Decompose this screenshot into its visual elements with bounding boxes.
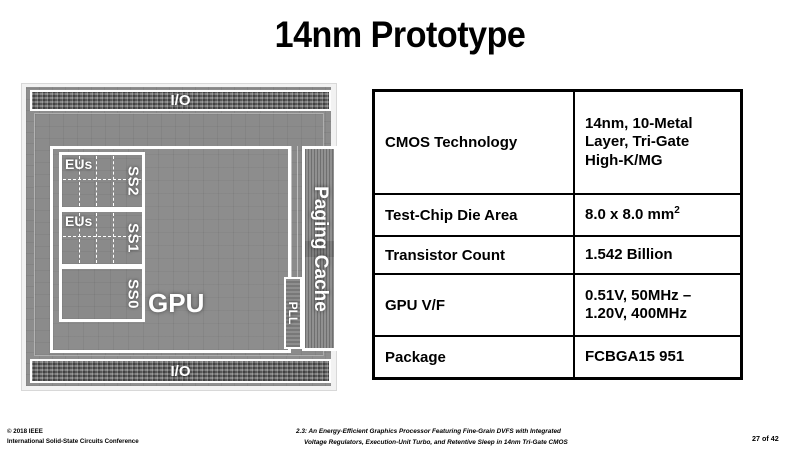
io-top-label: I/O [170,92,190,109]
io-bottom-label: I/O [170,363,190,380]
footer-paper-line-1: 2.3: An Energy-Efficient Graphics Proces… [296,428,561,435]
table-row: GPU V/F 0.51V, 50MHz – 1.20V, 400MHz [375,275,740,337]
die-region-io-bottom: I/O [30,359,331,383]
die-surface: I/O GPU EUs SS2 [26,87,331,386]
die-area-unit-exponent: 2 [674,205,680,216]
footer-paper-title: 2.3: An Energy-Efficient Graphics Proces… [296,427,726,448]
spec-value-package: FCBGA15 951 [575,337,740,377]
page-title: 14nm Prototype [32,14,768,56]
spec-key-cmos-technology: CMOS Technology [375,92,575,193]
ss1-label: SS1 [125,223,142,253]
table-row: Test-Chip Die Area 8.0 x 8.0 mm2 [375,195,740,237]
cmos-tech-line-3: High-K/MG [585,152,662,169]
die-core-area: GPU EUs SS2 EUs [34,113,324,356]
die-region-paging-cache: Paging Cache [302,146,337,351]
ss2-label: SS2 [125,166,142,196]
gpu-vf-line-1: 0.51V, 50MHz – [585,287,691,304]
table-row: CMOS Technology 14nm, 10-Metal Layer, Tr… [375,92,740,195]
footer-copyright-line-1: © 2018 IEEE [7,427,139,437]
footer-paper-line-2: Voltage Regulators, Execution-Unit Turbo… [296,438,726,449]
cmos-tech-line-1: 14nm, 10-Metal [585,115,693,132]
cmos-tech-line-2: Layer, Tri-Gate [585,133,689,150]
eus-label-ss1: EUs [65,213,92,229]
pll-label: PLL [286,302,300,325]
spec-table: CMOS Technology 14nm, 10-Metal Layer, Tr… [372,89,743,380]
spec-key-gpu-vf: GPU V/F [375,275,575,335]
footer-page-number: 27 of 42 [752,434,779,443]
eus-label-ss2: EUs [65,156,92,172]
die-region-ss0: SS0 [59,266,145,322]
spec-value-cmos-technology: 14nm, 10-Metal Layer, Tri-Gate High-K/MG [575,92,740,193]
die-region-pll: PLL [284,277,302,349]
spec-value-die-area: 8.0 x 8.0 mm2 [575,195,740,235]
footer-copyright: © 2018 IEEE International Solid-State Ci… [7,427,139,446]
spec-value-transistor-count: 1.542 Billion [575,237,740,273]
die-region-ss1: EUs SS1 [59,209,145,267]
die-region-io-top: I/O [30,90,331,111]
spec-key-transistor-count: Transistor Count [375,237,575,273]
die-region-ss2: EUs SS2 [59,152,145,210]
spec-key-package: Package [375,337,575,377]
spec-key-die-area: Test-Chip Die Area [375,195,575,235]
table-row: Package FCBGA15 951 [375,337,740,377]
slide-canvas: 14nm Prototype I/O GPU EUs SS2 [0,0,800,450]
footer-copyright-line-2: International Solid-State Circuits Confe… [7,437,139,447]
table-row: Transistor Count 1.542 Billion [375,237,740,275]
gpu-label: GPU [148,288,204,319]
ss0-label: SS0 [125,279,142,309]
die-photo: I/O GPU EUs SS2 [22,84,336,390]
paging-cache-label: Paging Cache [309,186,331,312]
die-area-value: 8.0 x 8.0 mm [585,206,674,223]
gpu-vf-line-2: 1.20V, 400MHz [585,305,687,322]
spec-value-gpu-vf: 0.51V, 50MHz – 1.20V, 400MHz [575,275,740,335]
